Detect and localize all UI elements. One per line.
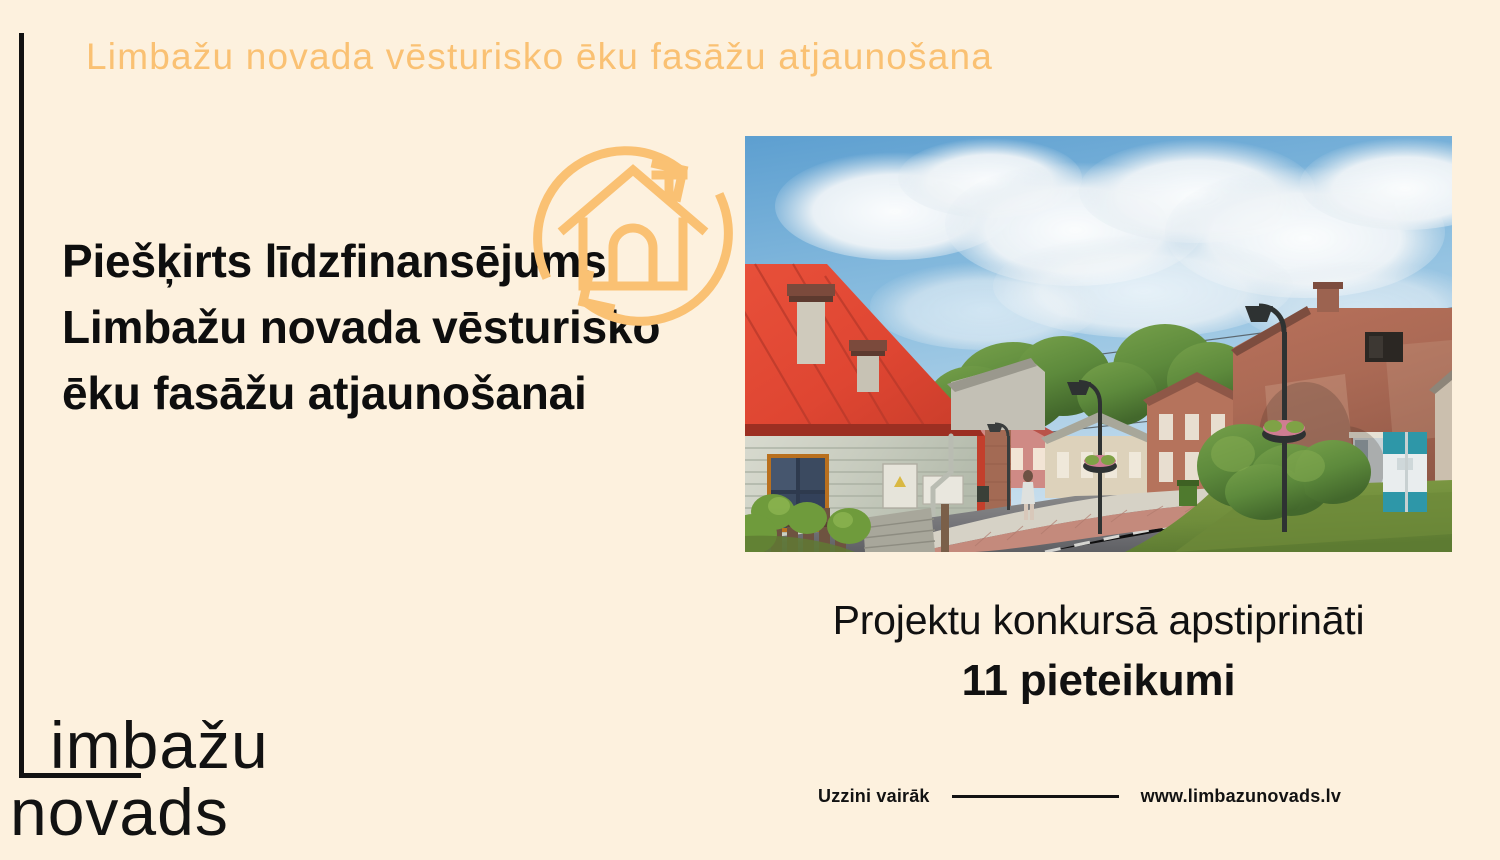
historic-street-photo-svg — [745, 136, 1452, 552]
brand-wordmark: imbažu novads — [38, 715, 269, 842]
house-renovation-cycle-icon-svg — [528, 126, 738, 346]
caption-line-approved: Projektu konkursā apstiprināti — [745, 596, 1452, 645]
footer-cta: Uzzini vairāk www.limbazunovads.lv — [818, 786, 1341, 807]
house-renovation-cycle-icon — [528, 126, 738, 346]
caption-line-count: 11 pieteikumi — [745, 655, 1452, 708]
brand-wordmark-line-1: imbažu — [50, 715, 269, 776]
historic-street-photo — [745, 136, 1452, 552]
footer-divider-rule — [952, 795, 1119, 798]
footer-label: Uzzini vairāk — [818, 786, 930, 807]
poster-canvas: Limbažu novada vēsturisko ēku fasāžu atj… — [0, 0, 1500, 860]
photo-caption: Projektu konkursā apstiprināti 11 pietei… — [745, 596, 1452, 708]
bracket-vertical-rule — [19, 33, 24, 778]
brand-wordmark-line-2: novads — [10, 782, 269, 843]
campaign-eyebrow-title: Limbažu novada vēsturisko ēku fasāžu atj… — [86, 36, 993, 79]
footer-website-url[interactable]: www.limbazunovads.lv — [1141, 786, 1341, 807]
